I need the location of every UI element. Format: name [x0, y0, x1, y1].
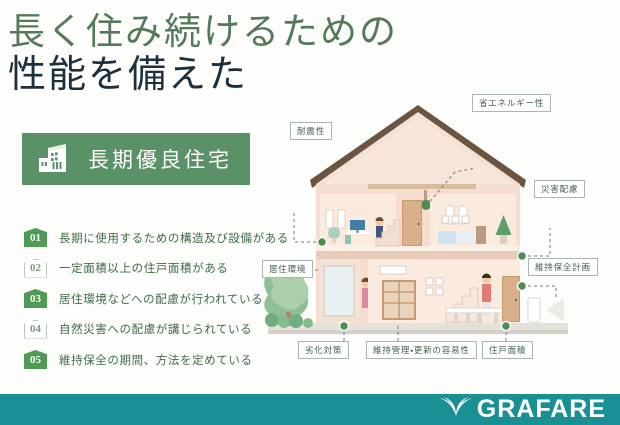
- callout-energy-saving: 省エネルギー性: [472, 94, 551, 112]
- advertisement-canvas: 長く住み続けるための 性能を備えた 長期優良住宅 01: [0, 0, 620, 425]
- brand-name: GRAFARE: [477, 395, 606, 424]
- brand-logo: GRAFARE: [439, 394, 606, 425]
- list-item: 02 一定面積以上の住戸面積がある: [24, 256, 274, 281]
- brand-footer-bar: GRAFARE: [0, 394, 620, 425]
- list-item: 04 自然災害への配慮が講じられている: [24, 317, 274, 342]
- banner-title: 長期優良住宅: [88, 144, 232, 174]
- criteria-list: 01 長期に使用するための構造及び設備がある 02 一定面積以上の住戸面積がある…: [24, 225, 274, 378]
- criteria-badge-04: 04: [24, 320, 47, 339]
- list-item: 03 居住環境などへの配慮が行われている: [24, 286, 274, 311]
- house-cutaway-illustration: 省エネルギー性 耐震性 災害配慮 維持保全計画 居住環境 劣化対策 維持管理・更…: [250, 60, 620, 380]
- headline-line-1: 長く住み続けるための: [8, 14, 448, 51]
- callout-living-environment: 居住環境: [262, 260, 313, 278]
- criteria-badge-03: 03: [24, 289, 47, 308]
- callout-dwelling-area: 住戸面積: [482, 341, 533, 359]
- leaf-wing-logo-icon: [439, 395, 473, 424]
- criteria-badge-02: 02: [24, 259, 47, 278]
- criteria-badge-01: 01: [24, 228, 47, 247]
- callout-maintenance-ease: 維持管理・更新の容易性: [366, 341, 477, 359]
- criteria-text-03: 居住環境などへの配慮が行われている: [59, 291, 263, 307]
- list-item: 01 長期に使用するための構造及び設備がある: [24, 225, 274, 250]
- list-item: 05 維持保全の期間、方法を定めている: [24, 347, 274, 372]
- criteria-text-04: 自然災害への配慮が講じられている: [59, 321, 252, 337]
- certification-banner: 長期優良住宅: [22, 133, 250, 185]
- callout-disaster-consideration: 災害配慮: [534, 180, 585, 198]
- callout-maintenance-plan: 維持保全計画: [528, 258, 598, 276]
- building-icon: [36, 142, 78, 176]
- criteria-badge-05: 05: [24, 350, 47, 369]
- callout-earthquake-resistance: 耐震性: [290, 122, 332, 140]
- criteria-text-05: 維持保全の期間、方法を定めている: [59, 352, 253, 368]
- criteria-text-02: 一定面積以上の住戸面積がある: [59, 260, 228, 276]
- callout-degradation-measures: 劣化対策: [298, 341, 349, 359]
